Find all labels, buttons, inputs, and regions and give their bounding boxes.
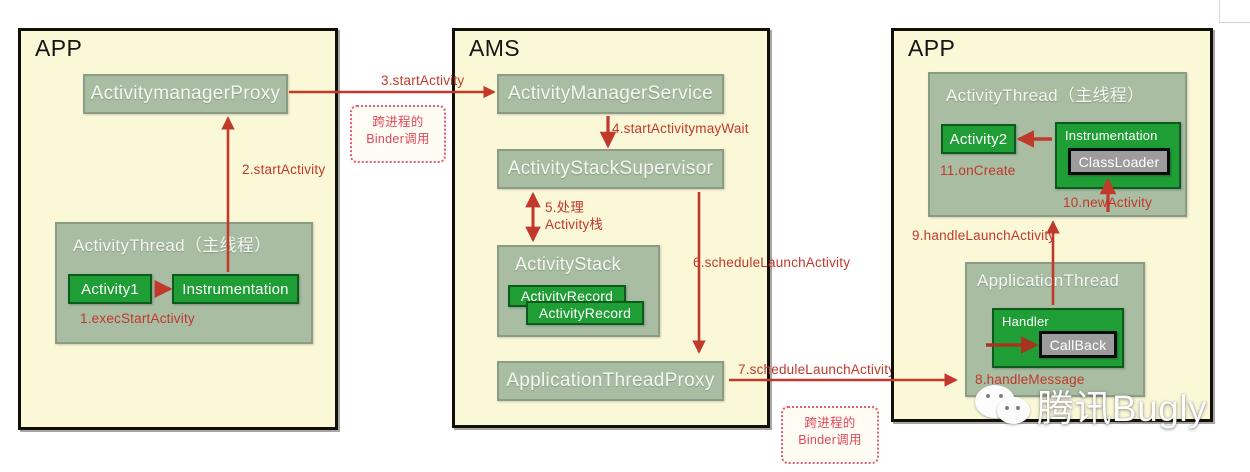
step-label-1: 1.execStartActivity <box>80 311 195 328</box>
step-label-9: 9.handleLaunchActivity <box>912 228 1055 245</box>
step-label-8: 8.handleMessage <box>975 372 1085 389</box>
binder-note-top: 跨进程的 Binder调用 <box>350 105 446 163</box>
binder-note-bottom: 跨进程的 Binder调用 <box>781 406 879 464</box>
box-callback: CallBack <box>1039 331 1117 358</box>
binder-note-top-line2: Binder调用 <box>352 131 444 148</box>
box-activity2: Activity2 <box>941 124 1016 154</box>
box-activity-record-2: ActivityRecord <box>526 301 644 325</box>
box-instrumentation-left: Instrumentation <box>172 274 299 304</box>
panel-title-app-right: APP <box>908 37 955 60</box>
box-activity-manager-service: ActivityManagerService <box>497 74 724 114</box>
step-label-4: 4.startActivitymayWait <box>612 121 749 138</box>
binder-note-top-line1: 跨进程的 <box>352 114 444 131</box>
diagram-canvas: APP ActivitymanagerProxy ActivityThread（… <box>0 0 1250 472</box>
panel-title-app-left: APP <box>35 37 82 60</box>
step-label-6: 6.scheduleLaunchActivity <box>693 255 850 272</box>
box-activity-stack-supervisor: ActivityStackSupervisor <box>497 149 724 189</box>
step-label-2: 2.startActivity <box>242 162 325 179</box>
step-label-11: 11.onCreate <box>940 163 1016 180</box>
box-activity-manager-proxy: ActivitymanagerProxy <box>83 74 288 114</box>
step-label-5: 5.处理 Activity栈 <box>545 200 603 234</box>
binder-note-bottom-line1: 跨进程的 <box>783 415 877 432</box>
panel-title-ams: AMS <box>469 37 520 60</box>
step-label-7: 7.scheduleLaunchActivity <box>738 362 895 379</box>
binder-note-bottom-line2: Binder调用 <box>783 432 877 449</box>
box-activity1: Activity1 <box>68 274 152 304</box>
step-label-3: 3.startActivity <box>381 73 464 90</box>
step-label-10: 10.newActivity <box>1063 195 1152 212</box>
box-class-loader: ClassLoader <box>1068 148 1170 175</box>
corner-artifact <box>1219 0 1250 23</box>
box-application-thread-proxy: ApplicationThreadProxy <box>497 361 724 401</box>
